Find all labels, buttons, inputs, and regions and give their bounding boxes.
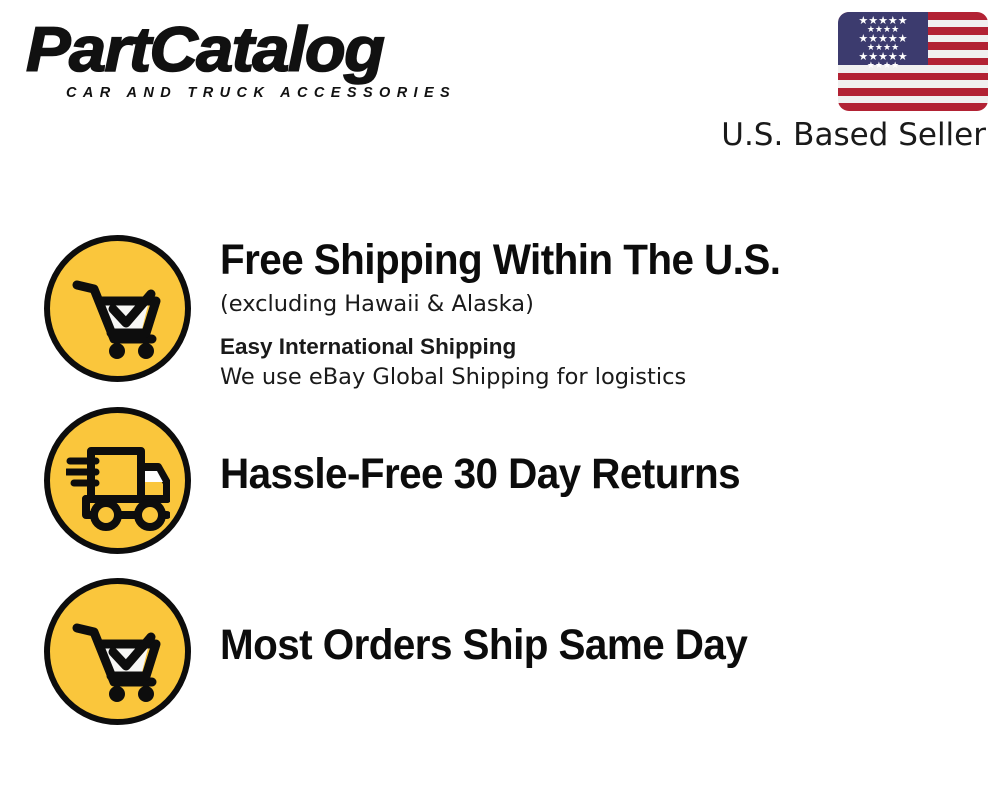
feature-text: Most Orders Ship Same Day — [191, 578, 1000, 668]
feature-item: Hassle-Free 30 Day Returns — [0, 407, 1000, 554]
feature-subtitle: (excluding Hawaii & Alaska) — [220, 290, 1000, 320]
brand-tagline: CAR AND TRUCK ACCESSORIES — [66, 85, 496, 101]
feature-item: Free Shipping Within The U.S. (excluding… — [0, 235, 1000, 393]
feature-icon-wrap — [44, 578, 191, 725]
brand-wordmark: PartCatalog — [26, 22, 524, 80]
flag-canton: ★★★★★ ★★★★ ★★★★★ ★★★★ ★★★★★ ★★★★ — [838, 12, 928, 65]
banner-header: PartCatalog CAR AND TRUCK ACCESSORIES ★★… — [0, 0, 1000, 170]
brand-logo: PartCatalog CAR AND TRUCK ACCESSORIES — [26, 22, 496, 101]
feature-sub-heading: Easy International Shipping — [220, 332, 1000, 362]
feature-sub-detail: We use eBay Global Shipping for logistic… — [220, 363, 1000, 393]
shopping-cart-check-icon — [44, 578, 191, 725]
us-flag-icon: ★★★★★ ★★★★ ★★★★★ ★★★★ ★★★★★ ★★★★ — [838, 12, 988, 111]
feature-title: Most Orders Ship Same Day — [220, 622, 953, 668]
us-based-seller-label: U.S. Based Seller — [721, 117, 986, 153]
feature-icon-wrap — [44, 407, 191, 554]
feature-text: Hassle-Free 30 Day Returns — [191, 407, 1000, 497]
feature-icon-wrap — [44, 235, 191, 382]
shopping-cart-check-icon — [44, 235, 191, 382]
feature-title: Free Shipping Within The U.S. — [220, 237, 953, 283]
feature-item: Most Orders Ship Same Day — [0, 578, 1000, 725]
feature-title: Hassle-Free 30 Day Returns — [220, 451, 953, 497]
feature-text: Free Shipping Within The U.S. (excluding… — [191, 235, 1000, 393]
delivery-truck-icon — [44, 407, 191, 554]
promo-banner: PartCatalog CAR AND TRUCK ACCESSORIES ★★… — [0, 0, 1000, 800]
